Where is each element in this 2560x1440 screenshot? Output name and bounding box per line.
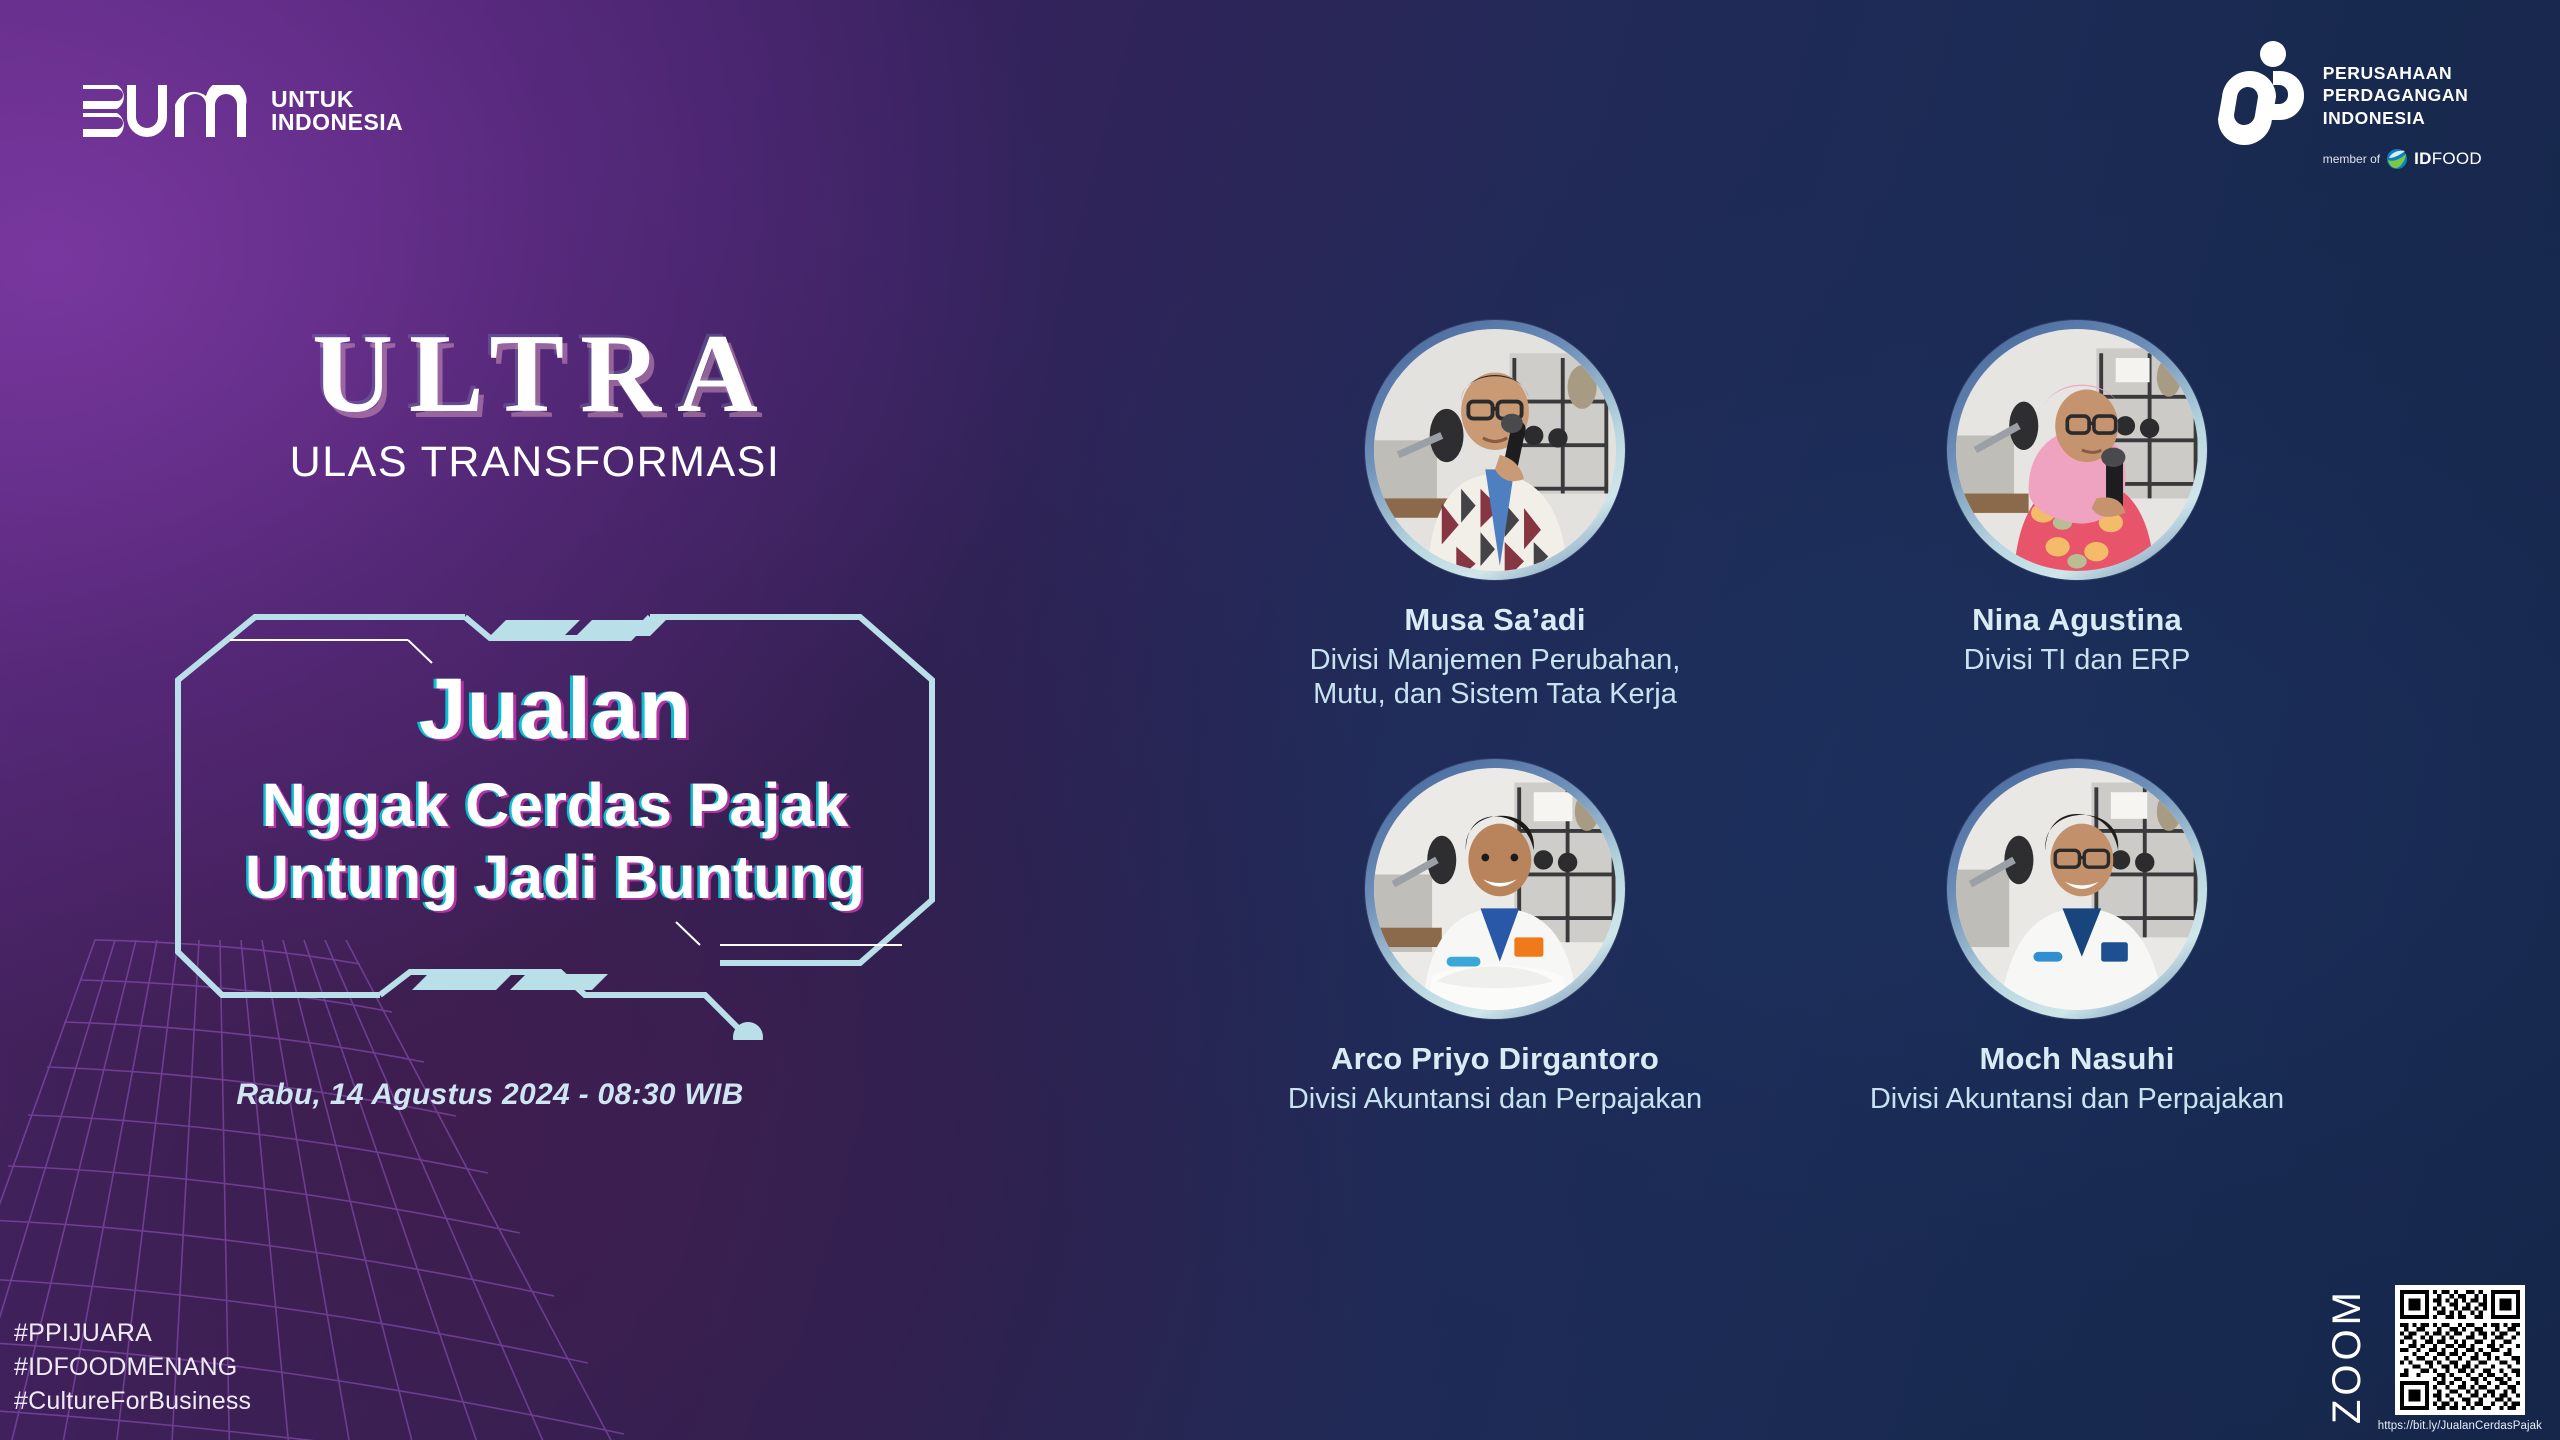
speaker-photo-0 <box>1374 329 1616 571</box>
speaker-role: Divisi Akuntansi dan Perpajakan <box>1288 1082 1702 1116</box>
qr-code-icon[interactable] <box>2395 1285 2525 1415</box>
portrait-illustration <box>1374 329 1616 571</box>
headline-line-3: Untung Jadi Buntung <box>160 842 950 914</box>
ppi-mark-icon <box>2217 40 2309 145</box>
speaker-name: Moch Nasuhi <box>1979 1041 2174 1077</box>
program-subtitle: ULAS TRANSFORMASI <box>205 438 865 487</box>
speaker-name: Nina Agustina <box>1972 602 2182 638</box>
avatar <box>1947 759 2207 1019</box>
speaker-role: Divisi Akuntansi dan Perpajakan <box>1870 1082 2284 1116</box>
headline-line-1: Jualan <box>160 665 950 754</box>
speakers-row-bottom: Arco Priyo Dirgantoro Divisi Akuntansi d… <box>1200 759 2380 1116</box>
idfood-logo-icon <box>2387 149 2407 169</box>
speaker-role: Divisi TI dan ERP <box>1964 643 2191 677</box>
speaker-card-3: Moch Nasuhi Divisi Akuntansi dan Perpaja… <box>1782 759 2372 1116</box>
member-of-block: member of IDFOOD <box>2323 149 2482 169</box>
hashtag-2: #IDFOODMENANG <box>14 1350 251 1384</box>
portrait-illustration <box>1956 329 2198 571</box>
speaker-card-1: Nina Agustina Divisi TI dan ERP <box>1782 320 2372 711</box>
ppi-logo: PERUSAHAAN PERDAGANGAN INDONESIA member … <box>2217 40 2482 169</box>
bumn-tagline-line1: UNTUK <box>271 88 403 111</box>
speaker-photo-1 <box>1956 329 2198 571</box>
idfood-wordmark: IDFOOD <box>2414 149 2482 169</box>
bumn-wordmark-icon <box>83 85 261 137</box>
bumn-tagline-line2: INDONESIA <box>271 111 403 134</box>
headline-block: Jualan Nggak Cerdas Pajak Untung Jadi Bu… <box>160 665 950 914</box>
speaker-card-0: Musa Sa’adi Divisi Manjemen Perubahan, M… <box>1200 320 1790 711</box>
speaker-card-2: Arco Priyo Dirgantoro Divisi Akuntansi d… <box>1200 759 1790 1116</box>
speaker-photo-3 <box>1956 768 2198 1010</box>
zoom-join-block[interactable]: ZOOM <box>2325 1285 2542 1432</box>
headline-line-2: Nggak Cerdas Pajak <box>160 770 950 842</box>
speaker-name: Musa Sa’adi <box>1404 602 1585 638</box>
ppi-text-block: PERUSAHAAN PERDAGANGAN INDONESIA member … <box>2323 40 2482 169</box>
speakers-row-top: Musa Sa’adi Divisi Manjemen Perubahan, M… <box>1200 320 2380 711</box>
hashtag-3: #CultureForBusiness <box>14 1384 251 1418</box>
program-title-block: ULTRA ULAS TRANSFORMASI <box>205 318 865 487</box>
member-of-label: member of <box>2323 152 2380 166</box>
webinar-poster: UNTUK INDONESIA PERUSAHAAN PERDAGANGAN I… <box>0 0 2560 1440</box>
avatar <box>1947 320 2207 580</box>
speakers-grid: Musa Sa’adi Divisi Manjemen Perubahan, M… <box>1200 320 2380 1117</box>
program-title: ULTRA <box>205 318 865 430</box>
bumn-tagline: UNTUK INDONESIA <box>271 88 403 134</box>
event-datetime: Rabu, 14 Agustus 2024 - 08:30 WIB <box>160 1078 820 1112</box>
portrait-illustration <box>1956 768 2198 1010</box>
speaker-role: Divisi Manjemen Perubahan, Mutu, dan Sis… <box>1310 643 1681 711</box>
hashtag-1: #PPIJUARA <box>14 1316 251 1350</box>
ppi-name-line3: INDONESIA <box>2323 107 2482 129</box>
zoom-platform-label: ZOOM <box>2325 1291 2370 1421</box>
speaker-name: Arco Priyo Dirgantoro <box>1331 1041 1659 1077</box>
zoom-url[interactable]: https://bit.ly/JualanCerdasPajak <box>2378 1420 2542 1432</box>
hashtags-block: #PPIJUARA #IDFOODMENANG #CultureForBusin… <box>14 1316 251 1418</box>
bumn-logo: UNTUK INDONESIA <box>83 85 403 137</box>
avatar <box>1365 320 1625 580</box>
ppi-name-line1: PERUSAHAAN <box>2323 62 2482 84</box>
speaker-photo-2 <box>1374 768 1616 1010</box>
ppi-name-line2: PERDAGANGAN <box>2323 84 2482 106</box>
portrait-illustration <box>1374 768 1616 1010</box>
qr-group[interactable]: https://bit.ly/JualanCerdasPajak <box>2378 1285 2542 1432</box>
avatar <box>1365 759 1625 1019</box>
